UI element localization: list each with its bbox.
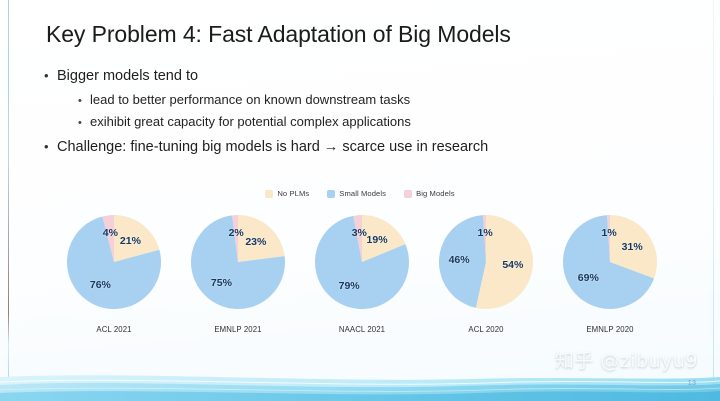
pie-slices (62, 210, 166, 314)
pie-chart: 21%76%4%ACL 2021 (58, 210, 170, 334)
legend-label: Big Models (416, 189, 455, 198)
bullet-text: exihibit great capacity for potential co… (90, 114, 411, 129)
pie-slice-label: 4% (103, 227, 118, 239)
legend-item: No PLMs (265, 189, 309, 198)
pie-chart-caption: ACL 2021 (96, 325, 131, 334)
pie-slice-label: 46% (449, 254, 470, 266)
legend-item: Big Models (404, 189, 455, 198)
pie-chart: 19%79%3%NAACL 2021 (306, 210, 418, 334)
bullet-item-1: • lead to better performance on known do… (78, 92, 684, 107)
bullet-text: Challenge: fine-tuning big models is har… (57, 139, 488, 155)
pie-chart-caption: EMNLP 2020 (586, 325, 633, 334)
chart-legend: No PLMsSmall ModelsBig Models (0, 189, 720, 198)
pie-slice-label: 31% (622, 241, 643, 253)
pie-chart: 31%69%1%EMNLP 2020 (554, 210, 666, 334)
bullet-marker-icon: • (44, 139, 57, 154)
legend-item: Small Models (327, 189, 386, 198)
pie-graphic: 54%46%1% (434, 210, 538, 314)
pie-chart-caption: ACL 2020 (468, 325, 503, 334)
pie-chart-row: 21%76%4%ACL 202123%75%2%EMNLP 202119%79%… (58, 210, 666, 334)
bullet-list: • Bigger models tend to • lead to better… (44, 68, 684, 163)
pie-graphic: 21%76%4% (62, 210, 166, 314)
bullet-item-2: • exihibit great capacity for potential … (78, 114, 684, 129)
bullet-marker-icon: • (78, 95, 90, 107)
page-number: 13 (688, 378, 696, 387)
pie-slices (310, 210, 414, 314)
pie-slice-label: 75% (211, 277, 232, 289)
pie-graphic: 31%69%1% (558, 210, 662, 314)
bullet-item-0: • Bigger models tend to (44, 68, 684, 84)
bullet-marker-icon: • (44, 68, 57, 83)
pie-slice-label: 19% (367, 234, 388, 246)
pie-slice-label: 79% (339, 280, 360, 292)
slide-canvas: Key Problem 4: Fast Adaptation of Big Mo… (0, 0, 720, 401)
pie-chart-caption: NAACL 2021 (339, 325, 385, 334)
slide-right-border (713, 0, 714, 401)
legend-label: Small Models (339, 189, 386, 198)
bullet-text: Bigger models tend to (57, 68, 198, 84)
bullet-item-3: • Challenge: fine-tuning big models is h… (44, 139, 684, 155)
pie-slice-label: 1% (602, 227, 617, 239)
pie-chart-caption: EMNLP 2021 (214, 325, 261, 334)
pie-slice-label: 54% (502, 259, 523, 271)
pie-graphic: 19%79%3% (310, 210, 414, 314)
pie-slice-label: 1% (478, 227, 493, 239)
legend-swatch-icon (327, 190, 335, 198)
pie-slice-label: 21% (120, 235, 141, 247)
page-title: Key Problem 4: Fast Adaptation of Big Mo… (46, 21, 511, 48)
bullet-marker-icon: • (78, 117, 90, 129)
pie-slice-label: 3% (352, 227, 367, 239)
pie-slices (186, 210, 290, 314)
bullet-text: lead to better performance on known down… (90, 92, 410, 107)
pie-slices (558, 210, 662, 314)
pie-slice-label: 76% (90, 279, 111, 291)
legend-swatch-icon (404, 190, 412, 198)
legend-swatch-icon (265, 190, 273, 198)
pie-chart: 23%75%2%EMNLP 2021 (182, 210, 294, 334)
slide-top-edge (0, 0, 720, 2)
pie-slice-label: 23% (245, 236, 266, 248)
legend-label: No PLMs (277, 189, 309, 198)
pie-slice-label: 69% (578, 272, 599, 284)
slide-left-border (8, 0, 9, 401)
slide-background (0, 0, 720, 401)
pie-slice-label: 2% (229, 227, 244, 239)
pie-chart: 54%46%1%ACL 2020 (430, 210, 542, 334)
pie-graphic: 23%75%2% (186, 210, 290, 314)
watermark: 知乎 @zibuyu9 (555, 346, 698, 373)
